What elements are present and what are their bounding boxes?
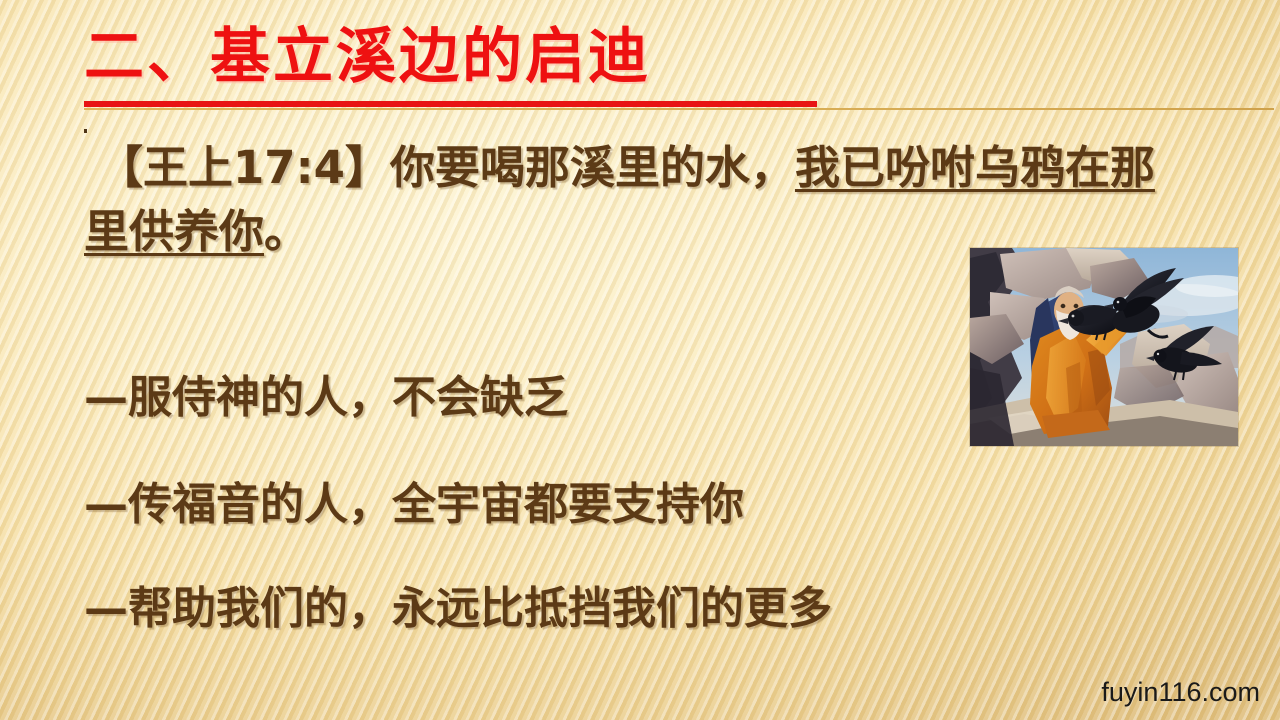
scripture-text-plain: 你要喝那溪里的水， <box>390 141 795 194</box>
scripture-paragraph: 【王上17:4】你要喝那溪里的水，我已吩咐乌鸦在那里供养你。 <box>84 136 1184 264</box>
list-item: —帮助我们的，永远比抵挡我们的更多 <box>84 583 832 635</box>
header-divider-line <box>84 108 1274 110</box>
elijah-ravens-painting-icon <box>970 248 1238 446</box>
stray-bullet-dot-icon <box>84 129 87 133</box>
list-item: —传福音的人，全宇宙都要支持你 <box>84 479 744 531</box>
illustration-elijah-ravens <box>970 248 1238 446</box>
scripture-reference: 【王上17:4】 <box>98 141 390 194</box>
title-underline-rule <box>84 101 817 107</box>
title-block: 二、基立溪边的启迪 <box>84 22 844 92</box>
list-item: —服侍神的人，不会缺乏 <box>84 372 568 424</box>
presentation-slide: 二、基立溪边的启迪 【王上17:4】你要喝那溪里的水，我已吩咐乌鸦在那里供养你。… <box>0 0 1280 720</box>
page-title: 二、基立溪边的启迪 <box>84 22 844 92</box>
scripture-text-period: 。 <box>264 205 309 258</box>
site-watermark: fuyin116.com <box>1101 677 1260 708</box>
